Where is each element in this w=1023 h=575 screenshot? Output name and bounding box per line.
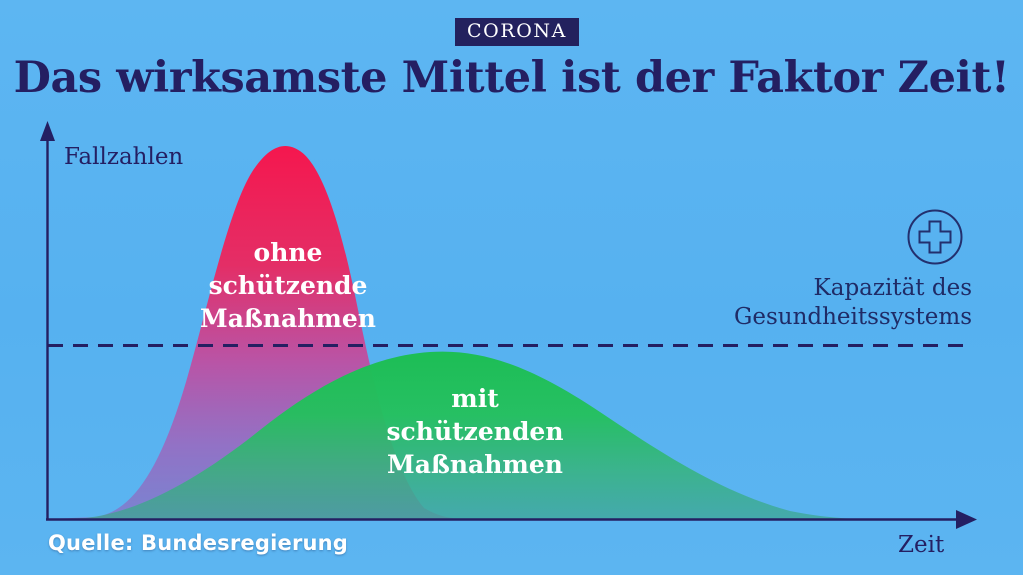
- y-axis-label: Fallzahlen: [64, 146, 183, 169]
- curve-label-with-measures-line-1: mit: [360, 382, 590, 415]
- curve-label-with-measures-line-3: Maßnahmen: [360, 448, 590, 481]
- capacity-annotation: Kapazität des Gesundheitssystems: [660, 274, 972, 333]
- capacity-annotation-line-1: Kapazität des: [660, 274, 972, 303]
- curve-label-with-measures-line-2: schützenden: [360, 415, 590, 448]
- medical-cross-in-circle-icon: [906, 208, 964, 266]
- curve-label-without-measures-line-3: Maßnahmen: [173, 302, 403, 335]
- curve-label-with-measures: mit schützenden Maßnahmen: [360, 382, 590, 481]
- curve-label-without-measures-line-1: ohne: [173, 236, 403, 269]
- infographic-canvas: CORONA Das wirksamste Mittel ist der Fak…: [0, 0, 1023, 575]
- curve-label-without-measures: ohne schützende Maßnahmen: [173, 236, 403, 335]
- x-axis-arrow: [956, 510, 977, 529]
- curve-label-without-measures-line-2: schützende: [173, 269, 403, 302]
- source-credit: Quelle: Bundesregierung: [48, 533, 348, 554]
- x-axis-label: Zeit: [898, 534, 944, 557]
- capacity-annotation-line-2: Gesundheitssystems: [660, 303, 972, 332]
- y-axis-arrow: [40, 121, 55, 141]
